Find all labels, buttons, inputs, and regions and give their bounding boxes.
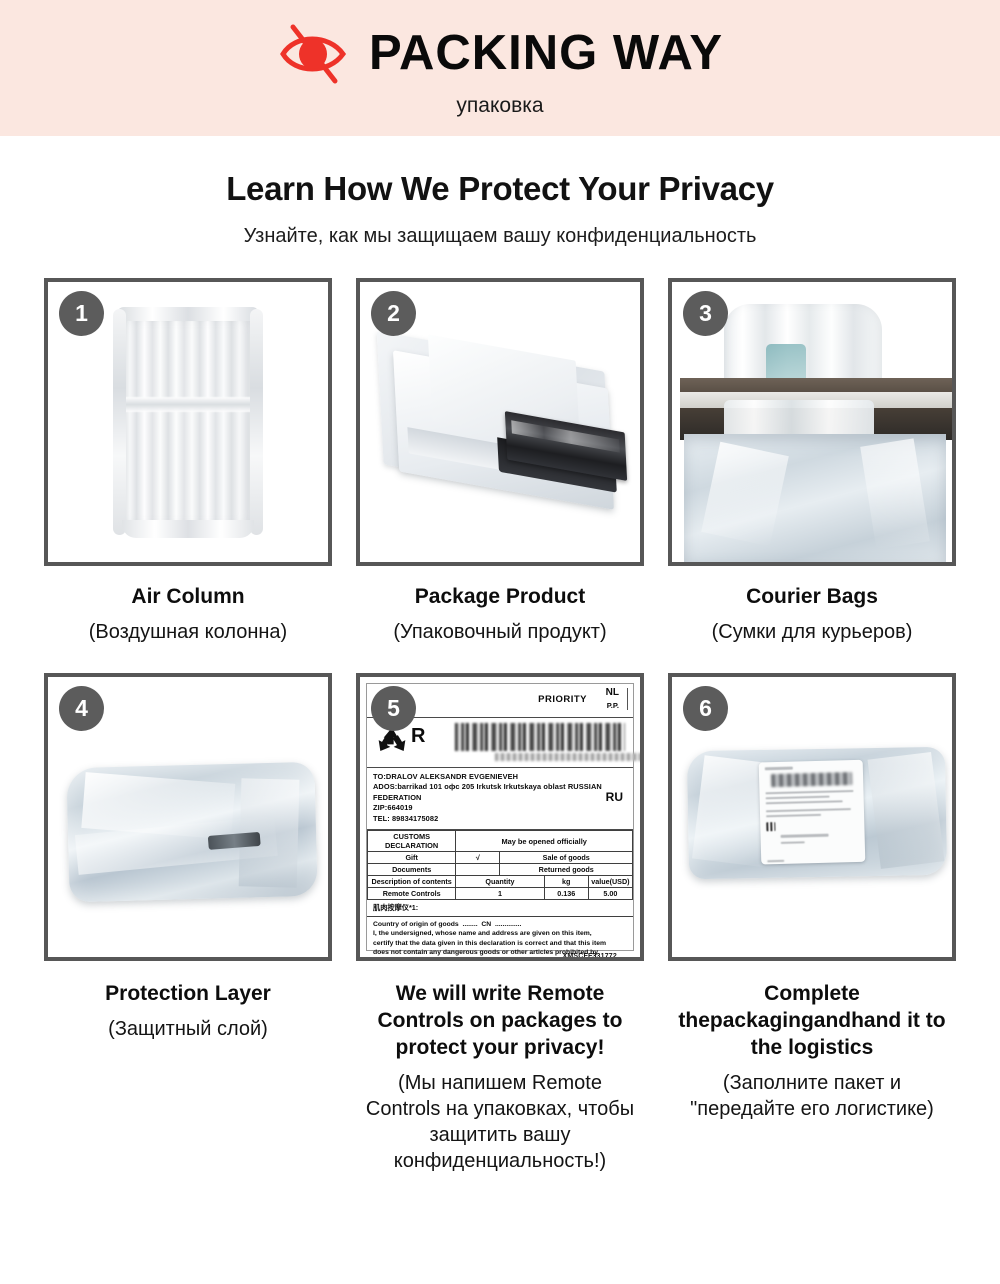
step-image-5: 5 PRIORITY NL P.P.	[356, 673, 644, 961]
step-title-en: Air Column	[48, 584, 328, 611]
step-image-1: 1	[44, 278, 332, 566]
tracking-code: XMSCFF331772	[562, 953, 617, 960]
step-title-en: Protection Layer	[48, 981, 328, 1008]
table-row: CUSTOMS DECLARATION May be opened offici…	[368, 830, 633, 852]
step-title-ru: (Заполните пакет и "передайте его логист…	[672, 1070, 952, 1122]
address-line: TO:DRALOV ALEKSANDR EVGENIEVEH	[373, 772, 627, 783]
step-title-ru: (Сумки для курьеров)	[672, 619, 952, 645]
barcode-text-blurred	[495, 753, 644, 761]
sale-of-goods-label: Sale of goods	[500, 852, 633, 864]
step-caption-5: We will write Remote Controls on package…	[356, 981, 644, 1174]
recycle-letter: R	[411, 726, 425, 746]
label-address-block: TO:DRALOV ALEKSANDR EVGENIEVEH ADOS:barr…	[367, 768, 633, 830]
gift-label: Gift	[368, 852, 456, 864]
step-card-4: 4 Protection Layer (Защитный слой)	[44, 673, 332, 1174]
address-line: TEL: 89834175082	[373, 814, 627, 825]
steps-grid: 1 Air Column (Воздушная колонна) 2	[44, 278, 956, 645]
step-title-ru: (Мы напишем Remote Controls на упаковках…	[360, 1070, 640, 1174]
address-line: ZIP:664019	[373, 803, 627, 814]
postage-paid-text: P.P.	[607, 701, 619, 710]
item-kg: 0.136	[544, 888, 588, 900]
address-line: ADOS:barrikad 101 офс 205 Irkutsk Irkuts…	[373, 782, 627, 793]
step-title-en: Courier Bags	[672, 584, 952, 611]
col-description: Description of contents	[368, 876, 456, 888]
table-row: Remote Controls 1 0.136 5.00	[368, 888, 633, 900]
parcel-label	[759, 760, 866, 865]
step-card-6: 6	[668, 673, 956, 1174]
step-title-en: Complete thepackagingandhand it to the l…	[672, 981, 952, 1062]
origin-dots: ........	[461, 921, 480, 928]
page-subtitle: Узнайте, как мы защищаем вашу конфиденци…	[0, 225, 1000, 248]
origin-value: CN	[481, 921, 491, 928]
col-quantity: Quantity	[456, 876, 544, 888]
declaration-line: transport or export / import requlations…	[373, 957, 627, 961]
origin-dots: ..............	[493, 921, 521, 928]
step-title-en: Package Product	[360, 584, 640, 611]
step-image-4: 4	[44, 673, 332, 961]
may-be-opened: May be opened officially	[456, 830, 633, 852]
step-number-badge: 3	[683, 291, 728, 336]
item-value: 5.00	[588, 888, 632, 900]
destination-code: RU	[606, 790, 623, 804]
step-card-1: 1 Air Column (Воздушная колонна)	[44, 278, 332, 645]
item-quantity: 1	[456, 888, 544, 900]
country-code-text: NL	[606, 687, 619, 698]
step-caption-2: Package Product (Упаковочный продукт)	[356, 584, 644, 645]
step-image-3: 3	[668, 278, 956, 566]
step-number-badge: 6	[683, 686, 728, 731]
step-card-5: 5 PRIORITY NL P.P.	[356, 673, 644, 1174]
step-caption-1: Air Column (Воздушная колонна)	[44, 584, 332, 645]
customs-title: CUSTOMS DECLARATION	[368, 830, 456, 852]
no-eye-icon	[277, 23, 351, 85]
origin-label: Country of origin of goods	[373, 921, 459, 928]
table-row: Documents Returned goods	[368, 864, 633, 876]
documents-checkbox	[456, 864, 500, 876]
step-title-ru: (Защитный слой)	[48, 1016, 328, 1042]
steps-grid-row-2: 4 Protection Layer (Защитный слой) 5 PRI…	[44, 673, 956, 1174]
step-card-2: 2 Package Product (Упаковочный продукт)	[356, 278, 644, 645]
brand-title: PACKING WAY	[369, 29, 723, 78]
item-description: Remote Controls	[368, 888, 456, 900]
gift-checkmark: √	[456, 852, 500, 864]
step-caption-4: Protection Layer (Защитный слой)	[44, 981, 332, 1042]
table-row: Gift √ Sale of goods	[368, 852, 633, 864]
col-kg: kg	[544, 876, 588, 888]
origin-line: Country of origin of goods ........ CN .…	[373, 920, 627, 929]
barcode-image	[455, 723, 625, 751]
step-number-badge: 5	[371, 686, 416, 731]
declaration-line: certify that the data given in this decl…	[373, 939, 627, 948]
cn-item-note: 肌肉按摩仪*1:	[367, 900, 633, 917]
step-title-ru: (Воздушная колонна)	[48, 619, 328, 645]
col-value: value(USD)	[588, 876, 632, 888]
step-caption-3: Courier Bags (Сумки для курьеров)	[668, 584, 956, 645]
step-image-2: 2	[356, 278, 644, 566]
declaration-line: I, the undersigned, whose name and addre…	[373, 929, 627, 938]
step-image-6: 6	[668, 673, 956, 961]
priority-text: PRIORITY	[538, 694, 587, 705]
step-number-badge: 2	[371, 291, 416, 336]
step-title-ru: (Упаковочный продукт)	[360, 619, 640, 645]
divider	[627, 688, 628, 710]
address-line: FEDERATION	[373, 793, 627, 804]
header-banner: PACKING WAY упаковка	[0, 0, 1000, 136]
step-number-badge: 4	[59, 686, 104, 731]
page-title: Learn How We Protect Your Privacy	[0, 170, 1000, 208]
documents-label: Documents	[368, 864, 456, 876]
customs-declaration-table: CUSTOMS DECLARATION May be opened offici…	[367, 830, 633, 901]
step-caption-6: Complete thepackagingandhand it to the l…	[668, 981, 956, 1122]
step-number-badge: 1	[59, 291, 104, 336]
table-row: Description of contents Quantity kg valu…	[368, 876, 633, 888]
declaration-block: Country of origin of goods ........ CN .…	[367, 917, 633, 961]
step-title-en: We will write Remote Controls on package…	[360, 981, 640, 1062]
brand-row: PACKING WAY	[277, 21, 723, 87]
step-card-3: 3 Courier Bags (Сумки для курьеров)	[668, 278, 956, 645]
returned-goods-label: Returned goods	[500, 864, 633, 876]
brand-subtitle: упаковка	[456, 95, 543, 116]
